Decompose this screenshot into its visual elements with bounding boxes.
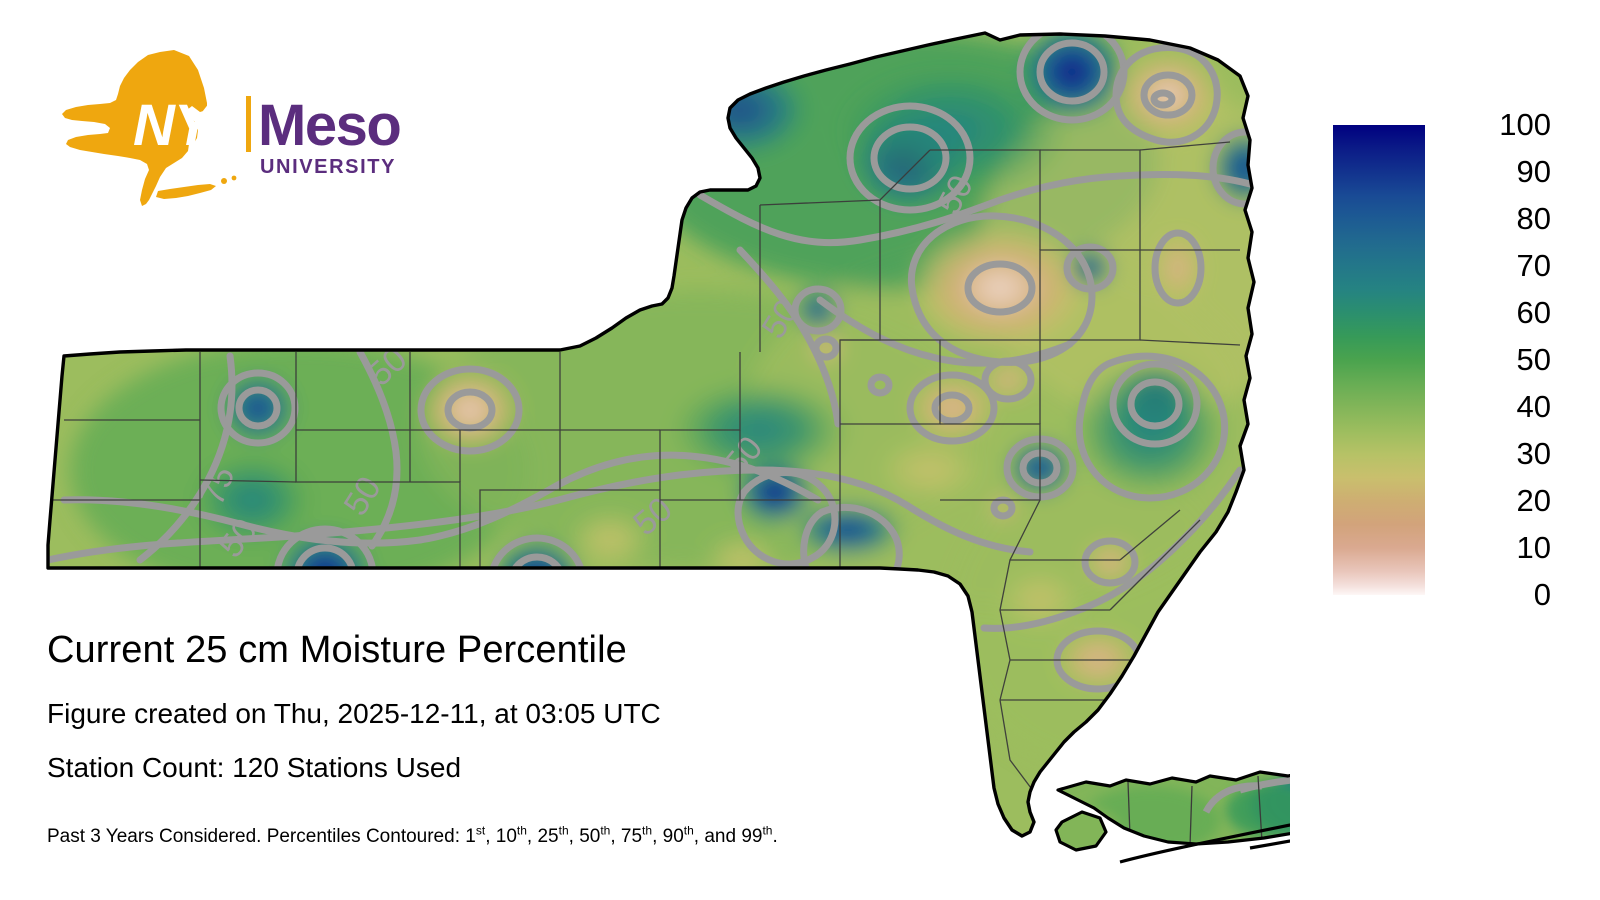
- footnote-percentile-1: 1st: [465, 826, 485, 847]
- footnote-ordinal-suffix: th: [642, 824, 652, 838]
- colorbar-tick-10: 10: [1517, 532, 1551, 563]
- colorbar-tick-50: 50: [1517, 344, 1551, 375]
- colorbar-tick-80: 80: [1517, 203, 1551, 234]
- footnote-percentile-75: 75th: [621, 826, 652, 847]
- colorbar-tick-90: 90: [1517, 156, 1551, 187]
- footnote-ordinal-suffix: th: [517, 824, 527, 838]
- colorbar-tick-100: 100: [1499, 109, 1551, 140]
- colorbar-tick-40: 40: [1517, 391, 1551, 422]
- colorbar-tick-60: 60: [1517, 297, 1551, 328]
- footnote-ordinal-suffix: th: [559, 824, 569, 838]
- colorbar-tick-labels: 1009080706050403020100: [1433, 125, 1551, 595]
- footnote-percentile-50: 50th: [579, 826, 610, 847]
- footnote-percentile-10: 10th: [496, 826, 527, 847]
- footnote-ordinal-suffix: th: [600, 824, 610, 838]
- footnote-ordinal-suffix: st: [476, 824, 485, 838]
- colorbar-tick-20: 20: [1517, 485, 1551, 516]
- page-title: Current 25 cm Moisture Percentile: [47, 628, 627, 672]
- station-count-line: Station Count: 120 Stations Used: [47, 752, 461, 784]
- percentile-colorbar: 1009080706050403020100: [1333, 125, 1573, 595]
- footnote-ordinal-suffix: th: [762, 824, 772, 838]
- long-island-region: [1040, 750, 1290, 880]
- contour-footnote: Past 3 Years Considered. Percentiles Con…: [47, 825, 778, 848]
- colorbar-gradient: [1333, 125, 1425, 595]
- colorbar-tick-30: 30: [1517, 438, 1551, 469]
- colorbar-tick-0: 0: [1534, 579, 1551, 610]
- footnote-ordinal-suffix: th: [684, 824, 694, 838]
- footnote-percentile-99: 99th: [741, 826, 772, 847]
- colorbar-tick-70: 70: [1517, 250, 1551, 281]
- footnote-percentile-90: 90th: [663, 826, 694, 847]
- figure-created-timestamp: Figure created on Thu, 2025-12-11, at 03…: [47, 698, 661, 730]
- footnote-percentile-25: 25th: [537, 826, 568, 847]
